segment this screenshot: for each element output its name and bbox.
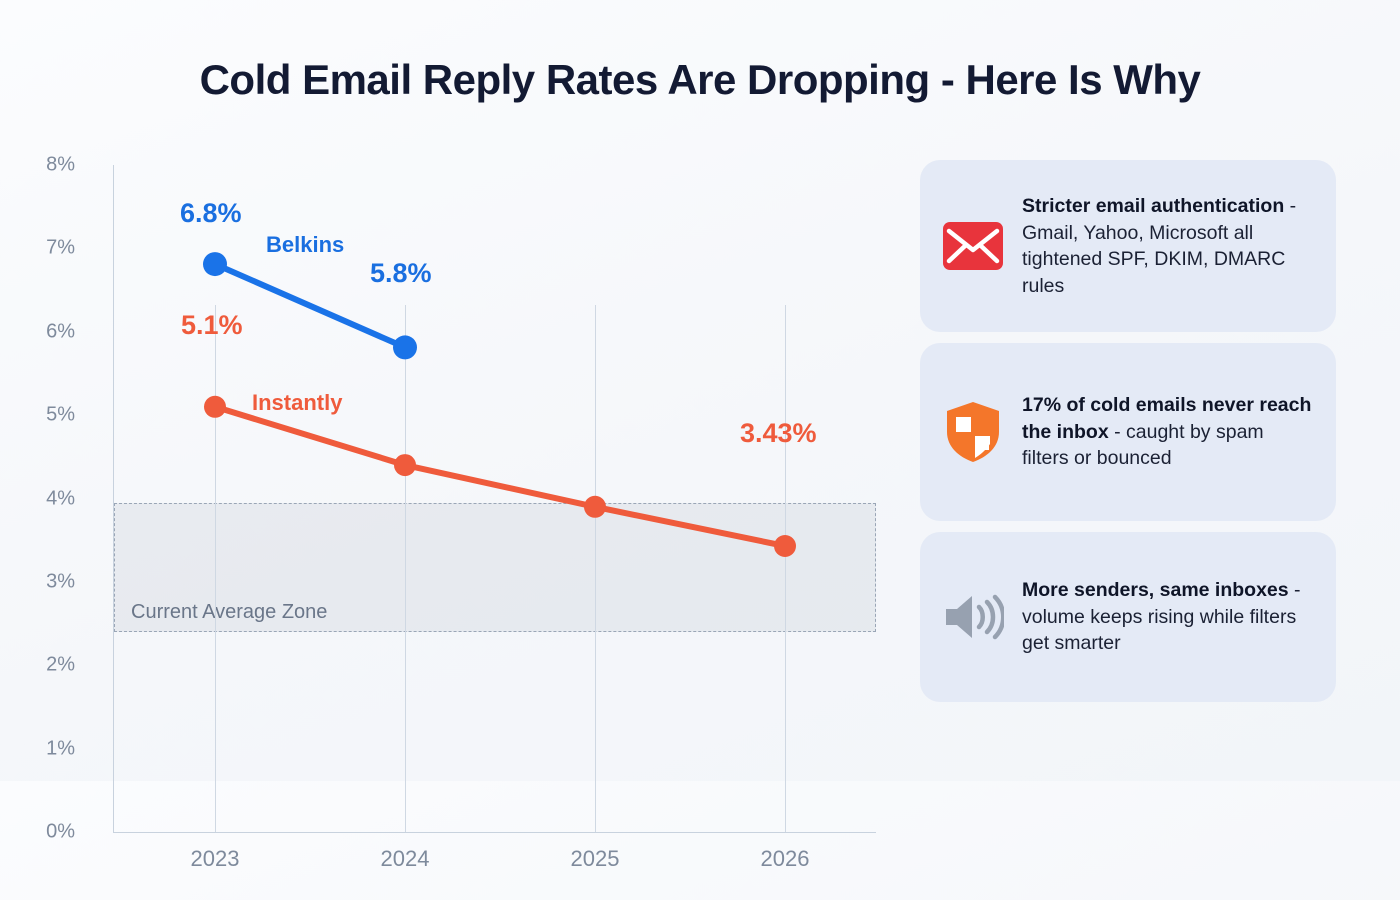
belkins-label-2023: 6.8% <box>180 198 242 229</box>
insight-card-email-authentication[interactable]: Stricter email authentication - Gmail, Y… <box>920 160 1336 332</box>
insight-card-text: 17% of cold emails never reach the inbox… <box>1022 392 1314 472</box>
instantly-point-2024 <box>394 454 416 476</box>
insight-card-bold: More senders, same inboxes <box>1022 579 1289 601</box>
belkins-point-2024 <box>393 335 417 359</box>
instantly-label-2026: 3.43% <box>740 418 817 449</box>
insight-card-inbox-delivery[interactable]: 17% of cold emails never reach the inbox… <box>920 343 1336 521</box>
series-lines <box>0 140 900 900</box>
insight-card-bold: Stricter email authentication <box>1022 195 1284 217</box>
infographic-page: Cold Email Reply Rates Are Dropping - He… <box>0 0 1400 781</box>
shield-icon <box>942 401 1004 463</box>
instantly-label-2023: 5.1% <box>181 310 243 341</box>
insight-card-text: More senders, same inboxes - volume keep… <box>1022 577 1314 657</box>
belkins-label-2024: 5.8% <box>370 258 432 289</box>
instantly-point-2023 <box>204 396 226 418</box>
speaker-icon <box>942 586 1004 648</box>
reply-rate-line-chart: Current Average Zone 0% 1% 2% 3% 4% 5% 6… <box>0 140 900 750</box>
insight-card-text: Stricter email authentication - Gmail, Y… <box>1022 193 1314 299</box>
instantly-point-2026 <box>774 535 796 557</box>
envelope-icon <box>942 215 1004 277</box>
insight-card-sender-volume[interactable]: More senders, same inboxes - volume keep… <box>920 532 1336 702</box>
page-title: Cold Email Reply Rates Are Dropping - He… <box>0 56 1400 104</box>
series-name-belkins: Belkins <box>266 232 344 258</box>
series-name-instantly: Instantly <box>252 390 342 416</box>
insight-cards: Stricter email authentication - Gmail, Y… <box>920 160 1336 713</box>
instantly-point-2025 <box>584 496 606 518</box>
belkins-point-2023 <box>203 252 227 276</box>
instantly-series-line <box>215 407 785 546</box>
